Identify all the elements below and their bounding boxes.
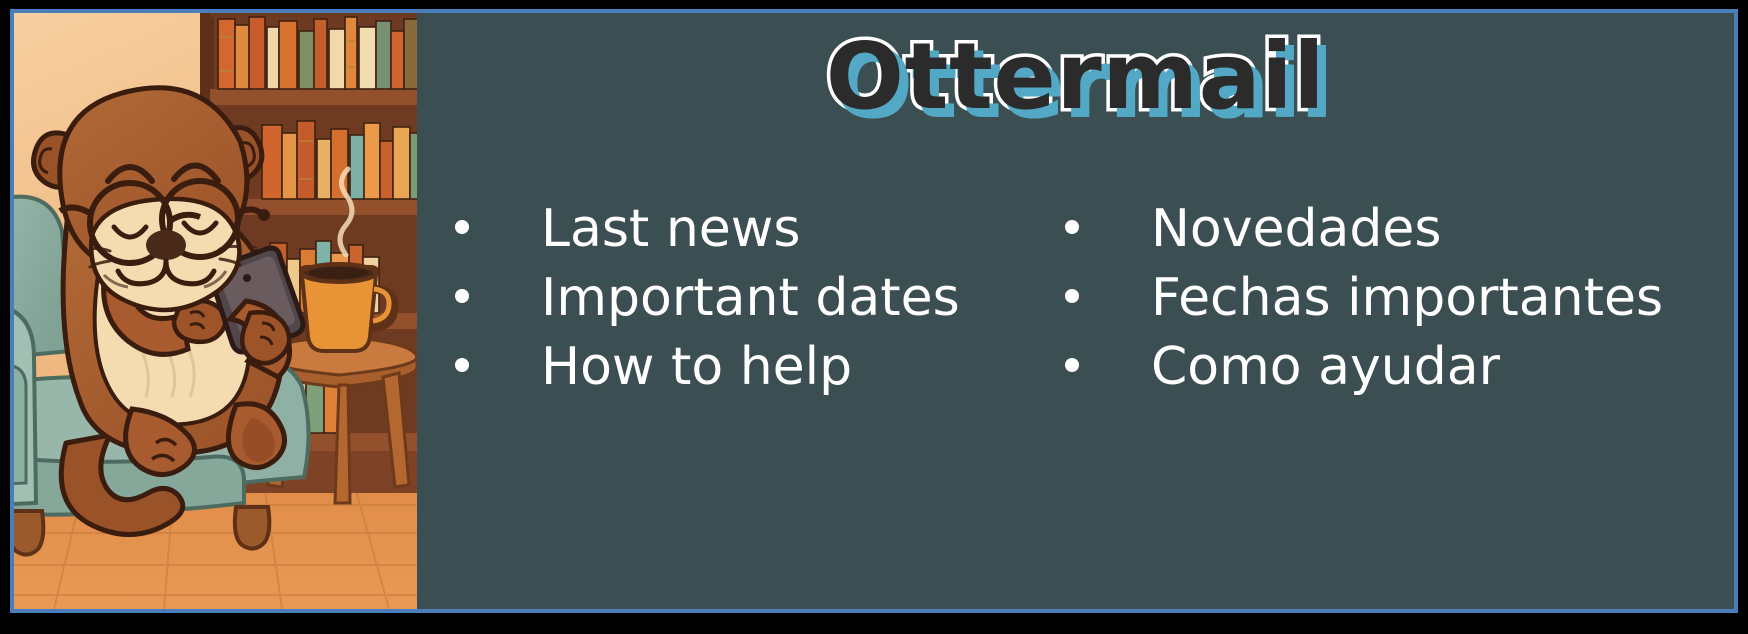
bullet-columns: Last news Important dates How to help No… [417,203,1734,410]
page-title: Ottermail [417,31,1734,123]
bullet-dot-icon [455,289,469,303]
list-item: Important dates [455,272,1045,341]
bullet-label: Important dates [541,272,960,324]
bullet-label: Novedades [1151,203,1441,255]
bullet-dot-icon [1065,358,1079,372]
otter-reading-phone-illustration [14,13,417,609]
bullet-dot-icon [1065,220,1079,234]
bullet-dot-icon [455,358,469,372]
slide-frame: Ottermail Last news Important dates How … [10,9,1738,613]
list-item: Last news [455,203,1045,272]
bullet-dot-icon [1065,289,1079,303]
bullet-dot-icon [455,220,469,234]
bullet-label: Fechas importantes [1151,272,1663,324]
list-item: Fechas importantes [1065,272,1705,341]
bullet-label: Como ayudar [1151,341,1500,393]
list-item: How to help [455,341,1045,410]
list-item: Como ayudar [1065,341,1705,410]
content-panel: Ottermail Last news Important dates How … [417,13,1734,609]
list-item: Novedades [1065,203,1705,272]
bullet-column-english: Last news Important dates How to help [417,203,1045,410]
bullet-column-spanish: Novedades Fechas importantes Como ayudar [1045,203,1705,410]
bullet-label: How to help [541,341,852,393]
bullet-label: Last news [541,203,800,255]
